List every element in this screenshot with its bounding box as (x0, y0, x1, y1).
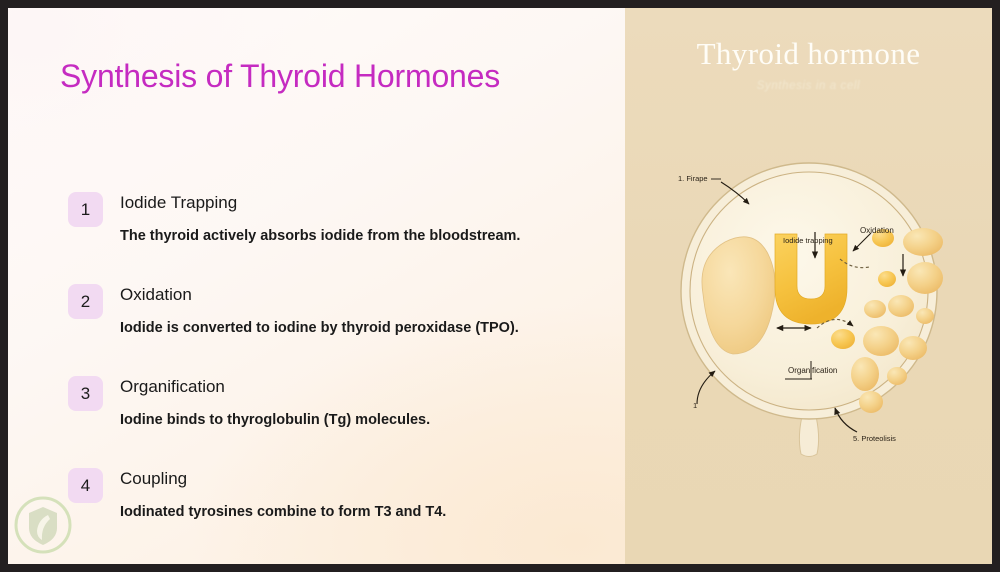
page-title: Synthesis of Thyroid Hormones (60, 58, 500, 95)
step-number-badge: 2 (68, 284, 103, 319)
step-number-badge: 1 (68, 192, 103, 227)
step-heading: Organification (120, 377, 225, 397)
diagram-label-frape: 1. Firape (678, 174, 708, 183)
diagram-label-proteolysis: 5. Proteolisis (853, 434, 896, 443)
left-content-panel: Synthesis of Thyroid Hormones 1 Iodide T… (8, 8, 625, 564)
step-number-badge: 3 (68, 376, 103, 411)
diagram-label-organification: Organification (788, 366, 837, 375)
illustration-title: Thyroid hormone (625, 36, 992, 72)
step-number-badge: 4 (68, 468, 103, 503)
thyroid-hormone-synthesis-cell-diagram: 1. Firape Iodide trapping Oxidation Orga… (625, 136, 992, 466)
slide-root: Synthesis of Thyroid Hormones 1 Iodide T… (0, 0, 1000, 572)
right-illustration-panel: Thyroid hormone Synthesis in a cell (625, 8, 992, 564)
list-item: 2 Oxidation Iodide is converted to iodin… (60, 280, 600, 372)
shield-leaf-logo-icon (14, 496, 72, 554)
diagram-label-iodide-trapping: Iodide trapping (783, 236, 833, 245)
diagram-label-oxidation: Oxidation (860, 226, 894, 235)
list-item: 3 Organification Iodine binds to thyrogl… (60, 372, 600, 464)
steps-list: 1 Iodide Trapping The thyroid actively a… (60, 188, 600, 556)
step-description: Iodinated tyrosines combine to form T3 a… (120, 504, 446, 520)
step-description: Iodide is converted to iodine by thyroid… (120, 320, 519, 336)
step-description: The thyroid actively absorbs iodide from… (120, 228, 520, 244)
diagram-label-one: 1 (693, 401, 697, 410)
step-heading: Coupling (120, 469, 187, 489)
illustration-subtitle: Synthesis in a cell (625, 80, 992, 92)
step-description: Iodine binds to thyroglobulin (Tg) molec… (120, 412, 430, 428)
slide-frame: Synthesis of Thyroid Hormones 1 Iodide T… (8, 8, 992, 564)
list-item: 4 Coupling Iodinated tyrosines combine t… (60, 464, 600, 556)
step-heading: Oxidation (120, 285, 192, 305)
step-heading: Iodide Trapping (120, 193, 237, 213)
list-item: 1 Iodide Trapping The thyroid actively a… (60, 188, 600, 280)
